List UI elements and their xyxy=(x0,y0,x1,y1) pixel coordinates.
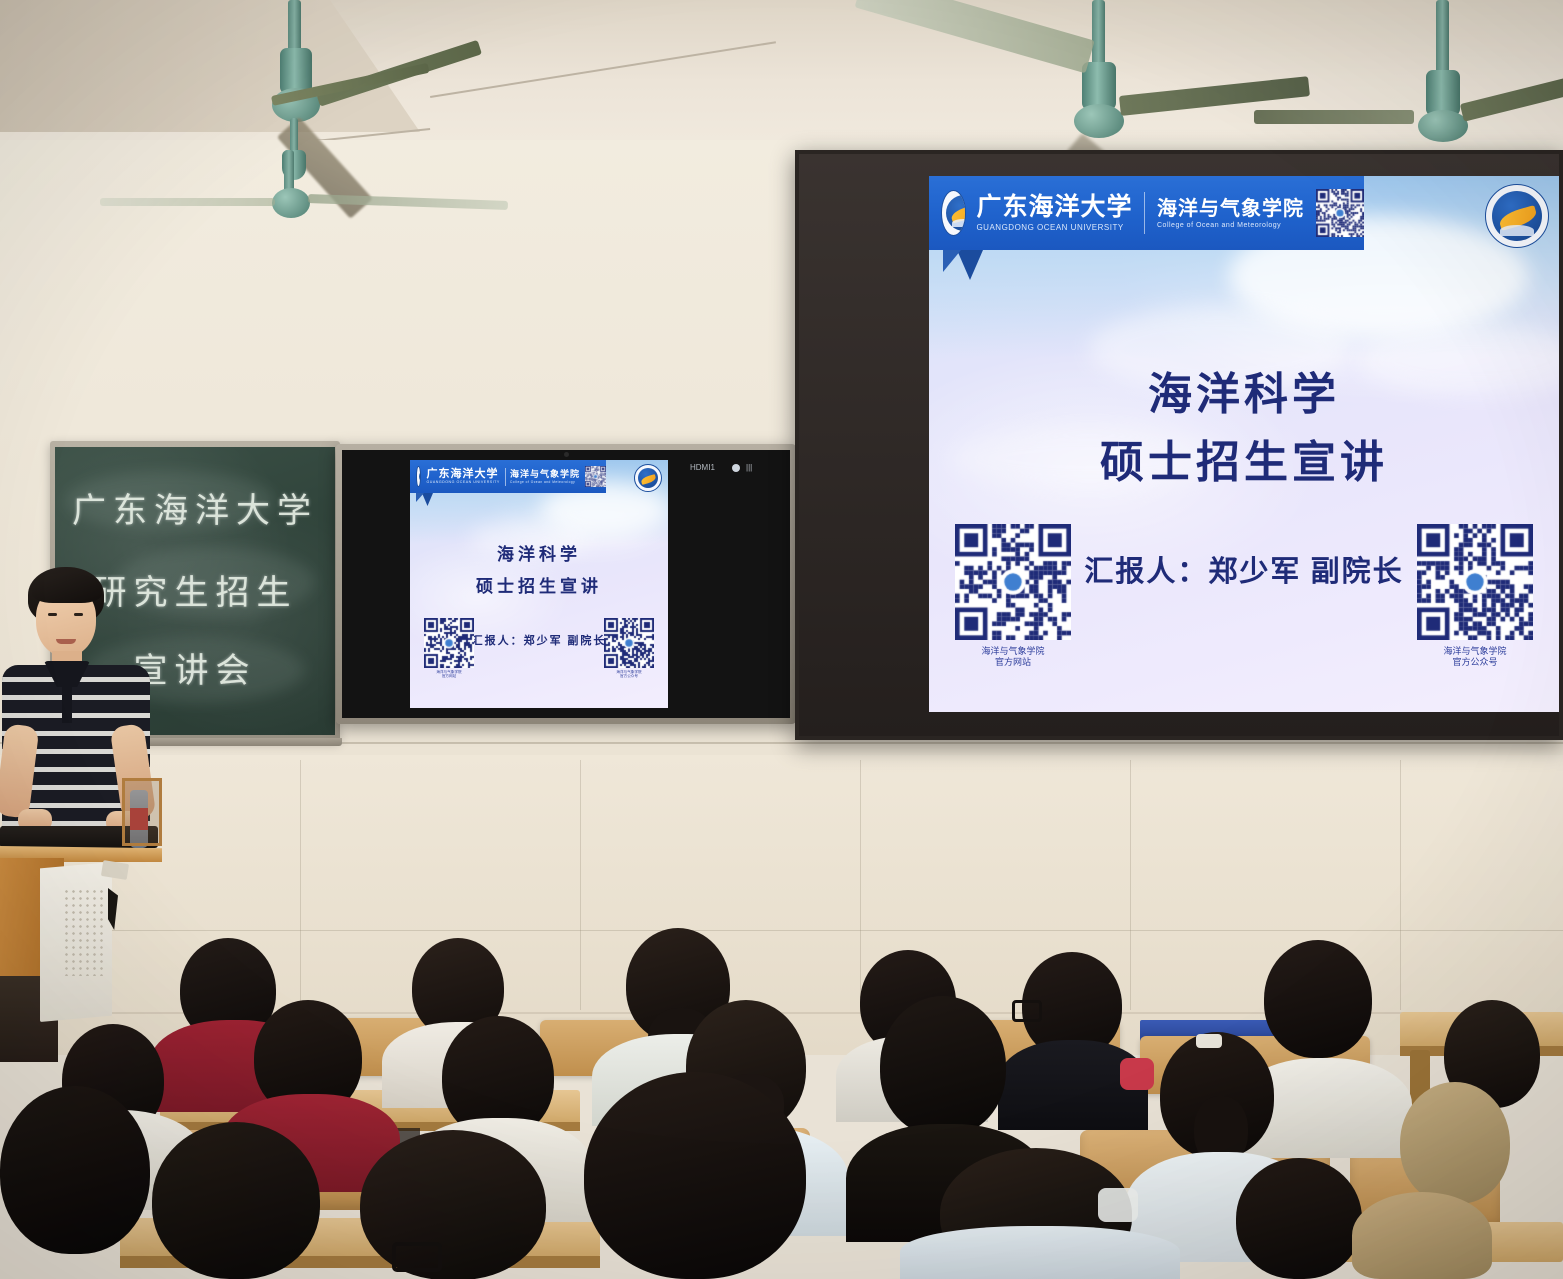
audience-head xyxy=(152,1122,320,1279)
wall-mounted-tv[interactable]: 广东海洋大学 GUANGDONG OCEAN UNIVERSITY 海洋与气象学… xyxy=(336,444,796,724)
presenter-eye xyxy=(48,613,57,616)
audience-head xyxy=(880,996,1006,1136)
tv-college-name-cn: 海洋与气象学院 xyxy=(510,469,580,480)
blackboard-line-1: 广东海洋大学 xyxy=(55,483,335,532)
wall-grout xyxy=(580,760,581,1010)
wall-grout xyxy=(1400,760,1401,1010)
audience-head xyxy=(1236,1158,1362,1279)
university-logo-small xyxy=(416,466,421,487)
presenter-mouth xyxy=(56,639,76,644)
tv-slide-title-line2: 硕士招生宣讲 xyxy=(410,572,668,597)
ceiling-fan-left xyxy=(226,0,646,150)
tv-qr-official-wechat xyxy=(604,618,654,668)
audience-shoulders xyxy=(900,1226,1180,1279)
qr-official-website xyxy=(955,524,1071,640)
university-name-cn: 广东海洋大学 xyxy=(976,194,1132,222)
wall-grout xyxy=(0,930,1563,931)
university-name-en: GUANGDONG OCEAN UNIVERSITY xyxy=(976,222,1132,233)
tv-college-seal-logo xyxy=(634,464,662,492)
wall-grout xyxy=(860,760,861,1010)
slide-title-line1: 海洋科学 xyxy=(929,358,1559,422)
fan-motor xyxy=(1082,62,1116,110)
header-qr-code xyxy=(1316,189,1364,237)
fan-blade xyxy=(308,194,508,210)
speaker-grille xyxy=(63,888,105,976)
tv-osd-indicator xyxy=(732,464,740,472)
wave-icon xyxy=(952,219,966,227)
wave-icon xyxy=(1500,225,1534,236)
tv-college-name-en: College of Ocean and Meteorology xyxy=(510,480,580,484)
projected-slide: 广东海洋大学 GUANGDONG OCEAN UNIVERSITY 海洋与气象学… xyxy=(929,176,1559,712)
audience-glasses xyxy=(392,1242,442,1272)
audience-head xyxy=(0,1086,150,1254)
tv-qr-website-caption: 海洋与气象学院官方网站 xyxy=(424,670,474,679)
tv-university-name-cn: 广东海洋大学 xyxy=(426,468,499,480)
fan-hub xyxy=(272,188,310,218)
presenter-hair-fringe xyxy=(32,573,102,603)
ceiling-fan-right xyxy=(1370,0,1563,160)
qr-official-wechat xyxy=(1417,524,1533,640)
qr-website-caption: 海洋与气象学院官方网站 xyxy=(955,646,1071,669)
audience-head xyxy=(1400,1082,1510,1204)
tv-screen[interactable]: 广东海洋大学 GUANGDONG OCEAN UNIVERSITY 海洋与气象学… xyxy=(342,450,790,718)
shirt-stripe xyxy=(2,695,150,700)
slide-canvas: 广东海洋大学 GUANGDONG OCEAN UNIVERSITY 海洋与气象学… xyxy=(929,176,1559,712)
tv-slide-title-line1: 海洋科学 xyxy=(410,540,668,565)
presenter-eye xyxy=(74,613,83,616)
header-divider xyxy=(1144,192,1145,234)
fan-rod xyxy=(284,150,294,192)
wall-grout xyxy=(300,760,301,1010)
slide-title-line2: 硕士招生宣讲 xyxy=(929,426,1559,490)
tv-osd-value: ||| xyxy=(746,463,752,472)
shirt-stripe xyxy=(2,713,150,718)
tv-osd-text: HDMI1 xyxy=(690,463,715,472)
fan-blade xyxy=(100,198,275,206)
university-logo-inner xyxy=(419,469,421,484)
audience-head xyxy=(584,1072,806,1279)
presenter-placket xyxy=(62,681,72,723)
audience-hair-clip xyxy=(1196,1034,1222,1048)
fan-rod xyxy=(1436,0,1449,76)
fan-hub xyxy=(1418,110,1468,142)
audience-mask xyxy=(1098,1188,1138,1222)
tv-slide: 广东海洋大学 GUANGDONG OCEAN UNIVERSITY 海洋与气象学… xyxy=(410,460,668,708)
audience-glasses xyxy=(1012,1000,1042,1022)
lecture-hall-photo: 广东海洋大学 研究生招生 宣讲会 广东海洋大学 xyxy=(0,0,1563,1279)
fan-blade xyxy=(1254,110,1414,124)
tv-university-name-en: GUANGDONG OCEAN UNIVERSITY xyxy=(426,480,499,485)
projection-screen[interactable]: 广东海洋大学 GUANGDONG OCEAN UNIVERSITY 海洋与气象学… xyxy=(795,150,1563,740)
college-name-cn: 海洋与气象学院 xyxy=(1157,197,1304,221)
college-seal-logo xyxy=(1485,184,1549,248)
ceiling-fan-left-lower xyxy=(250,150,610,260)
audience-head xyxy=(360,1130,546,1279)
audience-red-item xyxy=(1120,1058,1154,1090)
fish-wave-icon xyxy=(421,472,422,480)
fan-blade xyxy=(1460,73,1563,122)
tv-qr-official-website xyxy=(424,618,474,668)
college-name-en: College of Ocean and Meteorology xyxy=(1157,221,1304,230)
audience-cap xyxy=(1352,1192,1492,1279)
header-qr-code xyxy=(585,466,606,487)
tv-camera xyxy=(564,452,569,457)
tv-slide-header: 广东海洋大学 GUANGDONG OCEAN UNIVERSITY 海洋与气象学… xyxy=(410,460,606,493)
slide-header-bar: 广东海洋大学 GUANGDONG OCEAN UNIVERSITY 海洋与气象学… xyxy=(929,176,1364,250)
tv-qr-wechat-caption: 海洋与气象学院官方公众号 xyxy=(604,670,654,679)
fan-rod xyxy=(288,0,301,52)
qr-wechat-caption: 海洋与气象学院官方公众号 xyxy=(1417,646,1533,669)
fan-rod xyxy=(1092,0,1105,68)
university-logo xyxy=(941,190,966,236)
podium-frame-board xyxy=(122,778,162,846)
wall-grout xyxy=(1130,760,1131,1010)
audience-head xyxy=(1264,940,1372,1058)
